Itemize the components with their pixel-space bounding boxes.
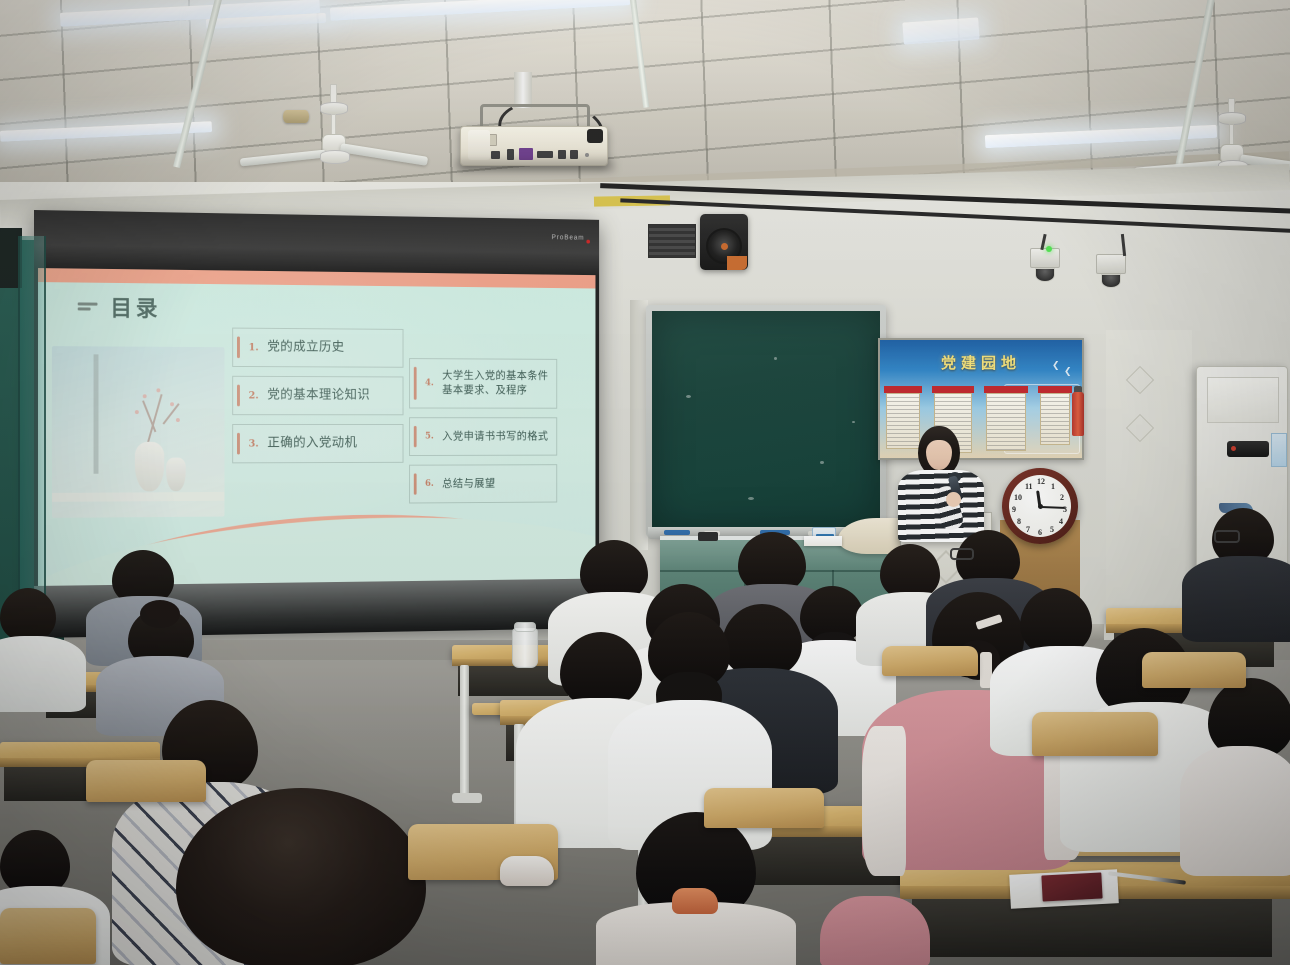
blackboard <box>646 305 886 537</box>
security-camera-icon <box>1096 254 1126 288</box>
toc-label: 入党申请书书写的格式 <box>442 429 548 443</box>
toc-item[interactable]: 5. 入党申请书书写的格式 <box>409 417 557 456</box>
cup-lid <box>514 622 536 632</box>
fan-rod <box>331 114 336 136</box>
chair-back <box>86 760 206 802</box>
photo-shelf <box>52 492 225 502</box>
toc-bar-icon <box>237 433 240 455</box>
chair-back <box>1142 652 1246 688</box>
camera-housing <box>1096 254 1126 274</box>
toc-number: 1. <box>249 342 259 353</box>
blackboard-surface <box>652 311 880 531</box>
panel-diamond <box>1126 414 1154 442</box>
paper-on-desk <box>804 536 842 546</box>
glasses-icon <box>950 548 974 560</box>
speaker-accent <box>727 256 747 270</box>
chair-back <box>882 646 978 676</box>
toc-number: 3. <box>249 438 259 449</box>
toc-number: 5. <box>425 432 434 442</box>
bulletin-board: 党建园地 ❮ ❮ <box>878 338 1084 460</box>
ac-vent <box>1207 377 1279 423</box>
bird-decoration-icon: ❮ <box>1052 360 1060 371</box>
chair-back <box>1032 712 1158 756</box>
slide-title-text: 目录 <box>110 291 161 323</box>
screen-brand-label: ProBeam <box>552 234 585 241</box>
toc-number: 4. <box>425 378 434 388</box>
ac-label-sticker <box>1271 433 1287 467</box>
photo-post <box>94 354 99 473</box>
toc-column-left: 1. 党的成立历史 2. 党的基本理论知识 3. 正确的入党动机 <box>232 328 403 464</box>
wall-panel <box>1106 330 1192 630</box>
toc-item[interactable]: 4. 大学生入党的基本条件基本要求、及程序 <box>409 358 557 409</box>
toc-item[interactable]: 2. 党的基本理论知识 <box>232 376 403 415</box>
red-booklet <box>1041 872 1102 901</box>
smoke-detector-icon <box>283 110 309 123</box>
slide-contents: 目录 1. 党的成立历史 2. 党的基本理论知识 <box>38 268 595 586</box>
camera-housing <box>1030 248 1060 268</box>
toc-bar-icon <box>414 473 417 494</box>
bird-decoration-icon: ❮ <box>1064 366 1072 377</box>
presenter-hand <box>946 492 961 507</box>
toc-item[interactable]: 3. 正确的入党动机 <box>232 424 403 463</box>
toc-number: 6. <box>425 479 434 489</box>
toc-bar-icon <box>414 426 417 447</box>
shoe <box>672 888 718 914</box>
toc-label: 党的成立历史 <box>267 339 344 357</box>
water-cup <box>512 628 538 668</box>
camera-dome <box>1101 274 1121 288</box>
projector-lens <box>468 130 490 160</box>
fan-hub <box>320 150 350 164</box>
toc-bar-icon <box>237 336 240 358</box>
chair-back <box>0 908 96 964</box>
toc-item[interactable]: 6. 总结与展望 <box>409 464 557 503</box>
toc-item[interactable]: 1. 党的成立历史 <box>232 328 403 368</box>
toc-bar-icon <box>237 385 240 407</box>
toc-label: 党的基本理论知识 <box>267 387 370 404</box>
toc-bar-icon <box>414 367 417 400</box>
list-mark-icon <box>78 301 98 311</box>
speaker-center-dot <box>721 243 728 250</box>
wall-clock: 12 1 2 3 4 5 6 7 8 9 10 11 <box>1002 468 1078 544</box>
clock-minute-hand <box>1040 506 1065 509</box>
projector-shadow <box>455 160 615 172</box>
toc-label: 总结与展望 <box>442 477 495 492</box>
slide-decorative-photo <box>52 346 225 518</box>
fire-extinguisher-icon <box>1072 392 1084 436</box>
screen-top-frame: ProBeam <box>34 210 599 275</box>
screen-led-icon <box>586 240 590 244</box>
glasses-icon <box>1214 530 1240 543</box>
toc-label: 大学生入党的基本条件基本要求、及程序 <box>442 369 549 398</box>
vase-icon <box>135 442 164 492</box>
security-camera-icon <box>1030 248 1060 282</box>
clock-center-pin <box>1038 504 1043 509</box>
clock-face: 12 1 2 3 4 5 6 7 8 9 10 11 <box>1009 475 1071 537</box>
vase-icon <box>166 458 185 492</box>
camera-dome <box>1035 268 1055 282</box>
slide-title: 目录 <box>78 290 162 323</box>
panel-diamond <box>1126 366 1154 394</box>
fan-rod <box>1229 124 1234 146</box>
screen-surface: 目录 1. 党的成立历史 2. 党的基本理论知识 <box>38 268 595 586</box>
toc-column-right: 4. 大学生入党的基本条件基本要求、及程序 5. 入党申请书书写的格式 6. 总… <box>409 358 557 503</box>
ac-power-led-icon <box>1231 446 1236 451</box>
toc-label: 正确的入党动机 <box>267 435 357 452</box>
chair-back <box>704 788 824 828</box>
wall-vent <box>648 224 696 258</box>
toc-number: 2. <box>249 390 259 401</box>
classroom-photo: 党建园地 ❮ ❮ ProBeam <box>0 0 1290 965</box>
shoe <box>500 856 554 886</box>
